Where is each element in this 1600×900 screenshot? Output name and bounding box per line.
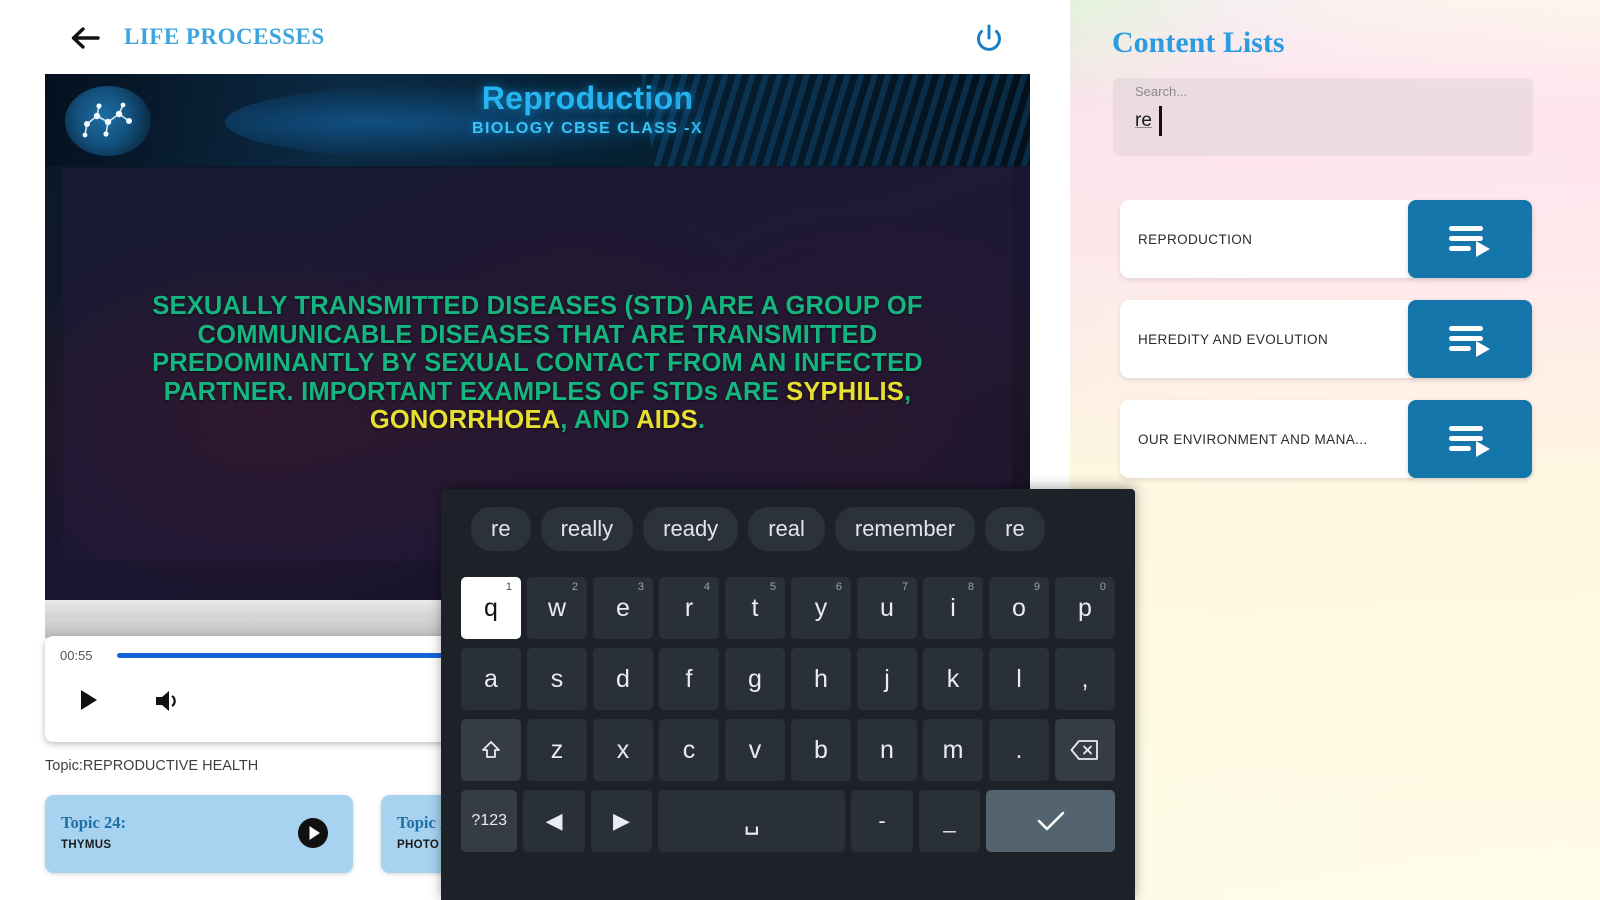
key-,[interactable]: , [1055, 648, 1115, 710]
search-value: re [1135, 110, 1152, 132]
key-label: r [685, 594, 693, 623]
play-circle-icon[interactable] [297, 817, 329, 849]
key-label: i [950, 594, 956, 623]
topic-card-title: Topic 24: [61, 813, 126, 833]
key-x[interactable]: x [593, 719, 653, 781]
key-u[interactable]: 7u [857, 577, 917, 639]
playlist-play-icon[interactable] [1408, 200, 1532, 278]
slide-text-segment: . [698, 406, 705, 434]
key-label: _ [943, 808, 955, 834]
key-e[interactable]: 3e [593, 577, 653, 639]
slide-text-highlight: GONORRHOEA [370, 406, 560, 434]
key-label: d [616, 665, 630, 694]
shift-icon [480, 739, 502, 761]
keyboard-row-2: asdfghjkl, [441, 648, 1135, 710]
key-b[interactable]: b [791, 719, 851, 781]
key-backspace[interactable] [1055, 719, 1115, 781]
app-root: LIFE PROCESSES [0, 0, 1600, 900]
key-superscript: 9 [1034, 581, 1040, 593]
key-label: l [1016, 665, 1022, 694]
content-list-item-label-box[interactable]: HEREDITY AND EVOLUTION [1120, 300, 1414, 378]
key-label: q [484, 594, 498, 623]
suggestion-chip[interactable]: real [748, 507, 825, 551]
content-list-item-label-box[interactable]: OUR ENVIRONMENT AND MANA... [1120, 400, 1414, 478]
key-label: a [484, 665, 498, 694]
key-y[interactable]: 6y [791, 577, 851, 639]
volume-icon[interactable] [153, 688, 183, 714]
key-d[interactable]: d [593, 648, 653, 710]
key-superscript: 8 [968, 581, 974, 593]
keyboard-row-4: ?123◀▶␣-_ [441, 790, 1135, 852]
key-underscore[interactable]: _ [919, 790, 980, 852]
key-label: p [1078, 594, 1092, 623]
slide-subtitle: BIOLOGY CBSE CLASS -X [45, 120, 1030, 138]
key-label: b [814, 736, 828, 765]
search-label: Search... [1135, 84, 1187, 99]
key-j[interactable]: j [857, 648, 917, 710]
topic-card[interactable]: Topic 24:THYMUS [45, 795, 353, 873]
back-arrow-icon[interactable] [68, 22, 104, 54]
key-label: h [814, 665, 828, 694]
key-label: o [1012, 594, 1026, 623]
audio-player: 00:55 [45, 636, 465, 742]
top-bar: LIFE PROCESSES [0, 0, 1070, 76]
key-o[interactable]: 9o [989, 577, 1049, 639]
key-dash[interactable]: - [851, 790, 912, 852]
key-label: c [683, 736, 696, 765]
key-label: s [551, 665, 564, 694]
key-symbols[interactable]: ?123 [461, 790, 517, 852]
key-label: x [617, 736, 630, 765]
content-list: REPRODUCTIONHEREDITY AND EVOLUTIONOUR EN… [1120, 200, 1532, 500]
checkmark-icon [1034, 808, 1068, 834]
search-input[interactable]: Search... re [1113, 78, 1533, 156]
on-screen-keyboard[interactable]: rereallyreadyrealrememberre 1q2w3e4r5t6y… [441, 489, 1135, 900]
topic-label: Topic:REPRODUCTIVE HEALTH [45, 758, 258, 774]
key-p[interactable]: 0p [1055, 577, 1115, 639]
backspace-icon [1070, 739, 1100, 761]
key-shift[interactable] [461, 719, 521, 781]
key-superscript: 3 [638, 581, 644, 593]
slide-text-highlight: AIDS [636, 406, 698, 434]
key-superscript: 2 [572, 581, 578, 593]
sidebar-title: Content Lists [1112, 26, 1285, 60]
key-label: ?123 [471, 812, 507, 830]
key-label: n [880, 736, 894, 765]
suggestion-chip[interactable]: really [541, 507, 634, 551]
key-g[interactable]: g [725, 648, 785, 710]
key-r[interactable]: 4r [659, 577, 719, 639]
key-label: j [884, 665, 890, 694]
key-z[interactable]: z [527, 719, 587, 781]
key-h[interactable]: h [791, 648, 851, 710]
content-list-item[interactable]: OUR ENVIRONMENT AND MANA... [1120, 400, 1532, 478]
suggestion-chip[interactable]: ready [643, 507, 738, 551]
key-label: y [815, 594, 828, 623]
key-label: w [548, 594, 566, 623]
key-label: g [748, 665, 762, 694]
key-superscript: 5 [770, 581, 776, 593]
key-m[interactable]: m [923, 719, 983, 781]
content-list-item-label-box[interactable]: REPRODUCTION [1120, 200, 1414, 278]
key-label: ␣ [744, 806, 760, 836]
key-space[interactable]: ␣ [658, 790, 845, 852]
key-s[interactable]: s [527, 648, 587, 710]
content-list-item[interactable]: HEREDITY AND EVOLUTION [1120, 300, 1532, 378]
key-label: z [551, 736, 564, 765]
key-label: e [616, 594, 630, 623]
key-t[interactable]: 5t [725, 577, 785, 639]
key-label: m [943, 736, 964, 765]
suggestion-chip[interactable]: remember [835, 507, 975, 551]
key-label: v [749, 736, 762, 765]
slide-text-segment: , AND [560, 406, 636, 434]
key-superscript: 6 [836, 581, 842, 593]
slide-text: SEXUALLY TRANSMITTED DISEASES (STD) ARE … [93, 292, 982, 435]
content-list-item-label: HEREDITY AND EVOLUTION [1138, 332, 1328, 347]
key-.[interactable]: . [989, 719, 1049, 781]
key-superscript: 0 [1100, 581, 1106, 593]
key-superscript: 1 [506, 581, 512, 593]
key-superscript: 4 [704, 581, 710, 593]
key-superscript: 7 [902, 581, 908, 593]
key-k[interactable]: k [923, 648, 983, 710]
suggestion-strip: rereallyreadyrealrememberre [441, 497, 1135, 561]
key-l[interactable]: l [989, 648, 1049, 710]
playlist-play-icon[interactable] [1408, 300, 1532, 378]
slide-text-segment: , [904, 378, 911, 406]
key-label: . [1016, 736, 1023, 765]
topic-card-subtitle: PHOTO [397, 839, 439, 851]
player-current-time: 00:55 [60, 648, 93, 663]
key-n[interactable]: n [857, 719, 917, 781]
slide-header: Reproduction BIOLOGY CBSE CLASS -X [45, 74, 1030, 166]
key-label: ▶ [613, 808, 630, 834]
key-c[interactable]: c [659, 719, 719, 781]
key-q[interactable]: 1q [461, 577, 521, 639]
key-f[interactable]: f [659, 648, 719, 710]
power-icon[interactable] [972, 22, 1006, 56]
key-label: ◀ [546, 808, 563, 834]
key-label: k [947, 665, 960, 694]
key-label: - [878, 808, 885, 834]
key-a[interactable]: a [461, 648, 521, 710]
key-label: f [686, 665, 693, 694]
key-label: t [752, 594, 759, 623]
player-progress-bar[interactable] [117, 653, 465, 658]
text-caret [1159, 106, 1162, 136]
slide-title: Reproduction [45, 80, 1030, 117]
play-icon[interactable] [78, 688, 100, 712]
key-arrow-left[interactable]: ◀ [523, 790, 584, 852]
keyboard-row-3: zxcvbnm. [441, 719, 1135, 781]
content-list-item-label: REPRODUCTION [1138, 232, 1252, 247]
content-list-item[interactable]: REPRODUCTION [1120, 200, 1532, 278]
key-i[interactable]: 8i [923, 577, 983, 639]
keyboard-row-1: 1q2w3e4r5t6y7u8i9o0p [441, 577, 1135, 639]
key-label: , [1082, 665, 1089, 694]
key-label: u [880, 594, 894, 623]
topic-card-subtitle: THYMUS [61, 839, 111, 851]
content-list-item-label: OUR ENVIRONMENT AND MANA... [1138, 432, 1368, 447]
key-w[interactable]: 2w [527, 577, 587, 639]
key-enter[interactable] [986, 790, 1115, 852]
suggestion-chip[interactable]: re [985, 507, 1045, 551]
key-arrow-right[interactable]: ▶ [591, 790, 652, 852]
key-v[interactable]: v [725, 719, 785, 781]
suggestion-chip[interactable]: re [471, 507, 531, 551]
slide-text-highlight: SYPHILIS [786, 378, 904, 406]
playlist-play-icon[interactable] [1408, 400, 1532, 478]
page-title: LIFE PROCESSES [124, 24, 325, 50]
